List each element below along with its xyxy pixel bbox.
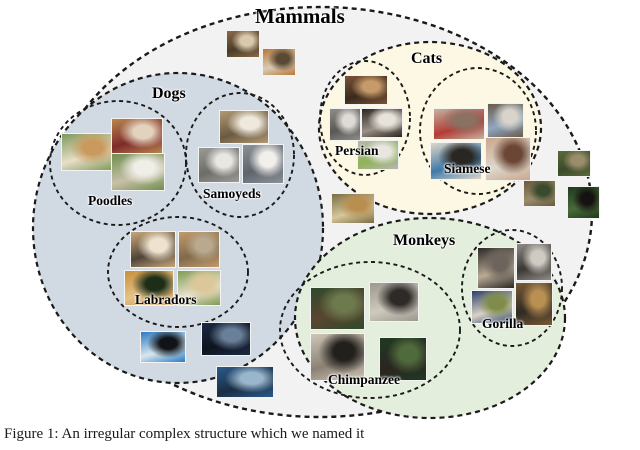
thumbnail-siamese xyxy=(487,103,524,138)
photo-gorilla-face-dark xyxy=(478,248,514,288)
photo-labrador-head-portrait xyxy=(131,232,175,267)
photo-lioness-with-cub xyxy=(227,31,259,57)
thumbnail-gorilla xyxy=(516,243,552,281)
photo-puppy-being-petted xyxy=(112,119,162,153)
group-label-dogs: Dogs xyxy=(152,85,186,103)
figure-title: Mammals xyxy=(255,4,345,29)
thumbnail-gorilla xyxy=(477,247,515,289)
unlabeled-thumbnail xyxy=(226,30,260,58)
photo-siamese-cat-on-pillow xyxy=(488,104,523,137)
photo-chimpanzee-in-foliage xyxy=(311,288,364,329)
subcluster-label-persian: Persian xyxy=(335,143,379,159)
subcluster-label-gorilla: Gorilla xyxy=(482,316,523,332)
unlabeled-thumbnail xyxy=(331,193,375,224)
thumbnail-samoyeds xyxy=(198,147,240,183)
unlabeled-thumbnail xyxy=(201,322,251,356)
photo-two-white-dogs-outdoors xyxy=(220,111,268,143)
thumbnail-persian xyxy=(329,108,361,141)
photo-white-small-dog-on-lawn xyxy=(112,154,164,190)
photo-brown-bear-in-forest xyxy=(524,181,555,206)
photo-black-bear-in-green xyxy=(568,187,599,218)
thumbnail-persian xyxy=(361,108,403,138)
thumbnail-siamese xyxy=(433,108,485,140)
group-label-monkeys: Monkeys xyxy=(393,232,455,250)
thumbnail-labradors xyxy=(130,231,176,268)
unlabeled-thumbnail xyxy=(140,331,186,363)
photo-gorilla-head-grey xyxy=(517,244,551,280)
subcluster-label-poodles: Poodles xyxy=(88,193,132,209)
photo-pangolin-on-branch xyxy=(558,151,590,176)
thumbnail-persian xyxy=(344,75,388,105)
photo-grey-persian-kitten xyxy=(330,109,360,140)
thumbnail-poodles xyxy=(61,133,113,171)
photo-siamese-cats-with-toy xyxy=(434,109,484,139)
thumbnail-samoyeds xyxy=(242,144,284,184)
unlabeled-thumbnail xyxy=(262,48,296,76)
photo-humpback-whale-breaching xyxy=(202,323,250,355)
subcluster-label-samoyeds: Samoyeds xyxy=(203,186,261,202)
group-label-cats: Cats xyxy=(411,50,442,68)
thumbnail-siamese xyxy=(485,137,531,181)
thumbnail-samoyeds xyxy=(219,110,269,144)
thumbnail-poodles xyxy=(111,153,165,191)
photo-tan-labrador-standing xyxy=(179,232,219,267)
photo-orca-swimming-blue-water xyxy=(141,332,185,362)
subcluster-label-labradors: Labradors xyxy=(135,292,197,308)
figure-caption: Figure 1: An irregular complex structure… xyxy=(0,426,640,443)
unlabeled-thumbnail xyxy=(557,150,591,177)
photo-persian-cat-with-hand xyxy=(345,76,387,104)
photo-siamese-cat-face-front xyxy=(486,138,530,180)
photo-white-fluffy-samoyed xyxy=(243,145,283,183)
subcluster-label-siamese: Siamese xyxy=(444,161,491,177)
thumbnail-poodles xyxy=(111,118,163,154)
subcluster-label-chimpanzee: Chimpanzee xyxy=(328,372,400,388)
photo-whale-spouting-at-sea xyxy=(217,367,273,397)
thumbnail-chimpanzee xyxy=(310,287,365,330)
photo-white-dog-face-closeup xyxy=(199,148,239,182)
figure-container: PoodlesSamoyedsLabradorsDogsPersianSiame… xyxy=(0,0,640,450)
unlabeled-thumbnail xyxy=(216,366,274,398)
thumbnail-chimpanzee xyxy=(369,282,419,322)
photo-black-white-cat-lying xyxy=(362,109,402,137)
photo-lion-and-cub-on-grass xyxy=(332,194,374,223)
photo-chimpanzee-sitting-on-ledge xyxy=(370,283,418,321)
thumbnail-overlay: PoodlesSamoyedsLabradorsDogsPersianSiame… xyxy=(0,0,640,450)
thumbnail-labradors xyxy=(178,231,220,268)
unlabeled-thumbnail xyxy=(523,180,556,207)
photo-lion-resting xyxy=(263,49,295,75)
unlabeled-thumbnail xyxy=(567,186,600,219)
photo-golden-retriever-on-grass xyxy=(62,134,112,170)
